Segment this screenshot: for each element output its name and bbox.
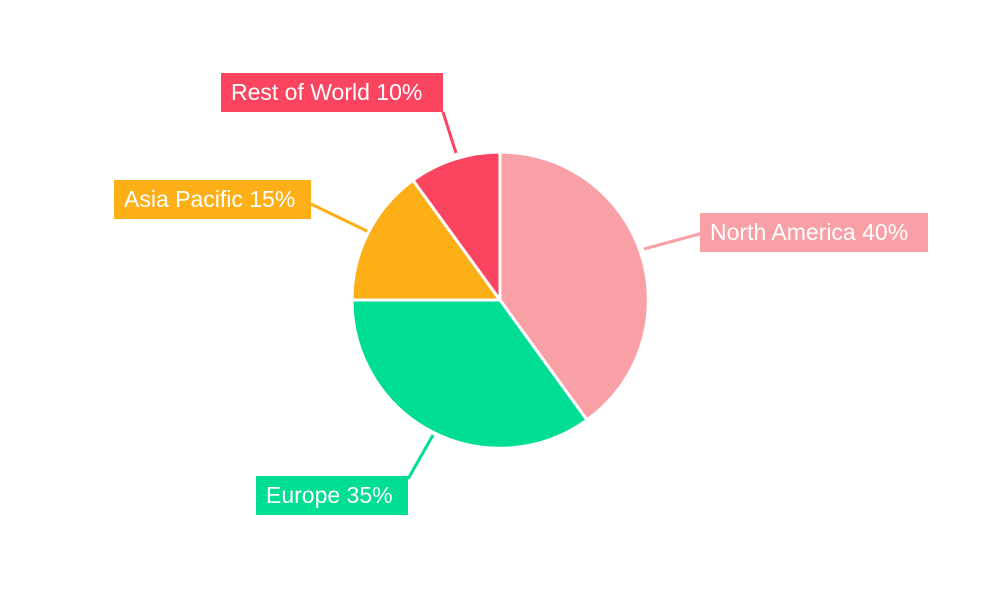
- leader-line-europe: [408, 435, 433, 479]
- pie-chart-container: Rest of World 10% Asia Pacific 15% North…: [0, 0, 1000, 600]
- pie-label-asia-pacific[interactable]: Asia Pacific 15%: [114, 180, 311, 219]
- pie-label-rest-of-world[interactable]: Rest of World 10%: [221, 73, 443, 112]
- leader-line-north-america: [644, 233, 703, 249]
- leader-line-rest-of-world: [443, 112, 456, 153]
- pie-label-north-america[interactable]: North America 40%: [700, 213, 928, 252]
- leader-line-asia-pacific: [311, 204, 371, 233]
- pie-label-europe[interactable]: Europe 35%: [256, 476, 408, 515]
- pie-slices-group: [352, 152, 648, 448]
- pie-chart-svg: [0, 0, 1000, 600]
